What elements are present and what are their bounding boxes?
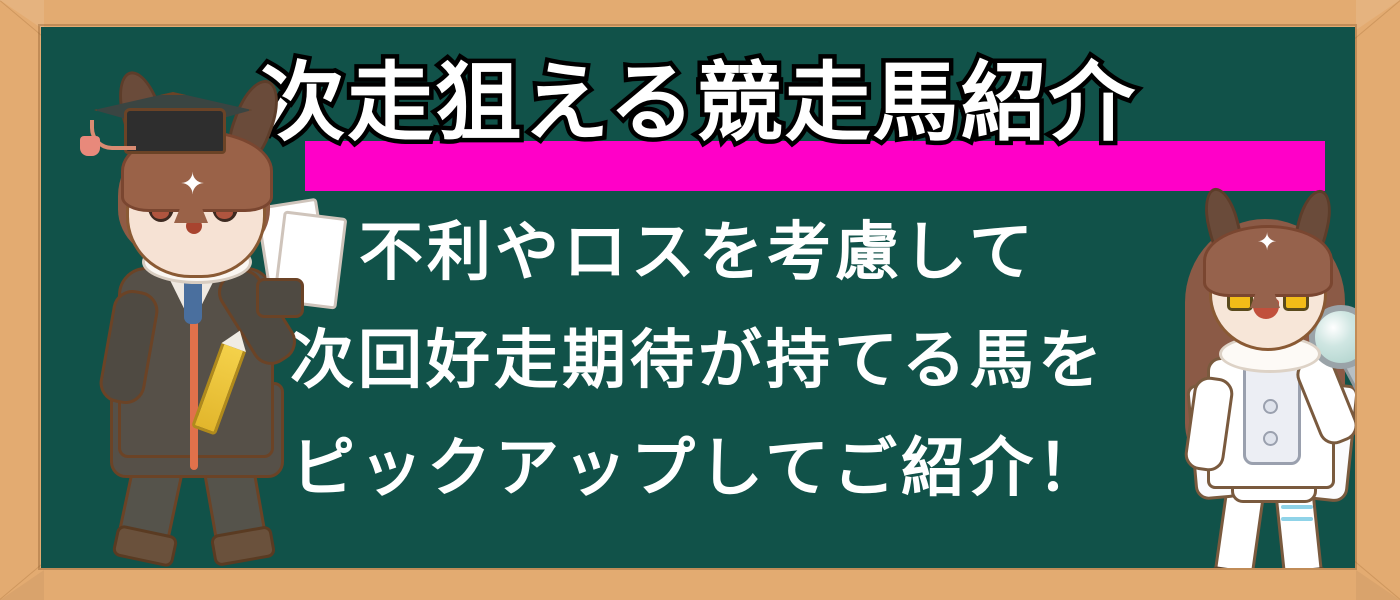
character-researcher: ✦ bbox=[1161, 187, 1355, 568]
sock-stripe-b bbox=[1281, 517, 1313, 521]
left-char-cuff bbox=[256, 278, 304, 318]
graduation-cap-tassel bbox=[80, 136, 100, 156]
sock-stripe-a bbox=[1281, 505, 1313, 509]
banner: 次走狙える競走馬紹介 不利やロスを考慮して 次回好走期待が持てる馬を ピックアッ… bbox=[0, 0, 1400, 600]
forehead-spark-icon: ✦ bbox=[180, 170, 205, 200]
vest-button-1 bbox=[1263, 399, 1278, 414]
left-char-necktie bbox=[184, 280, 202, 324]
vest-button-2 bbox=[1263, 431, 1278, 446]
forehead-spark-icon-r: ✦ bbox=[1257, 227, 1277, 257]
chalkboard: 次走狙える競走馬紹介 不利やロスを考慮して 次回好走期待が持てる馬を ピックアッ… bbox=[41, 27, 1355, 568]
character-professor: ✦ bbox=[66, 52, 326, 562]
right-char-vest bbox=[1243, 363, 1301, 465]
graduation-cap-crown-icon bbox=[124, 108, 226, 154]
